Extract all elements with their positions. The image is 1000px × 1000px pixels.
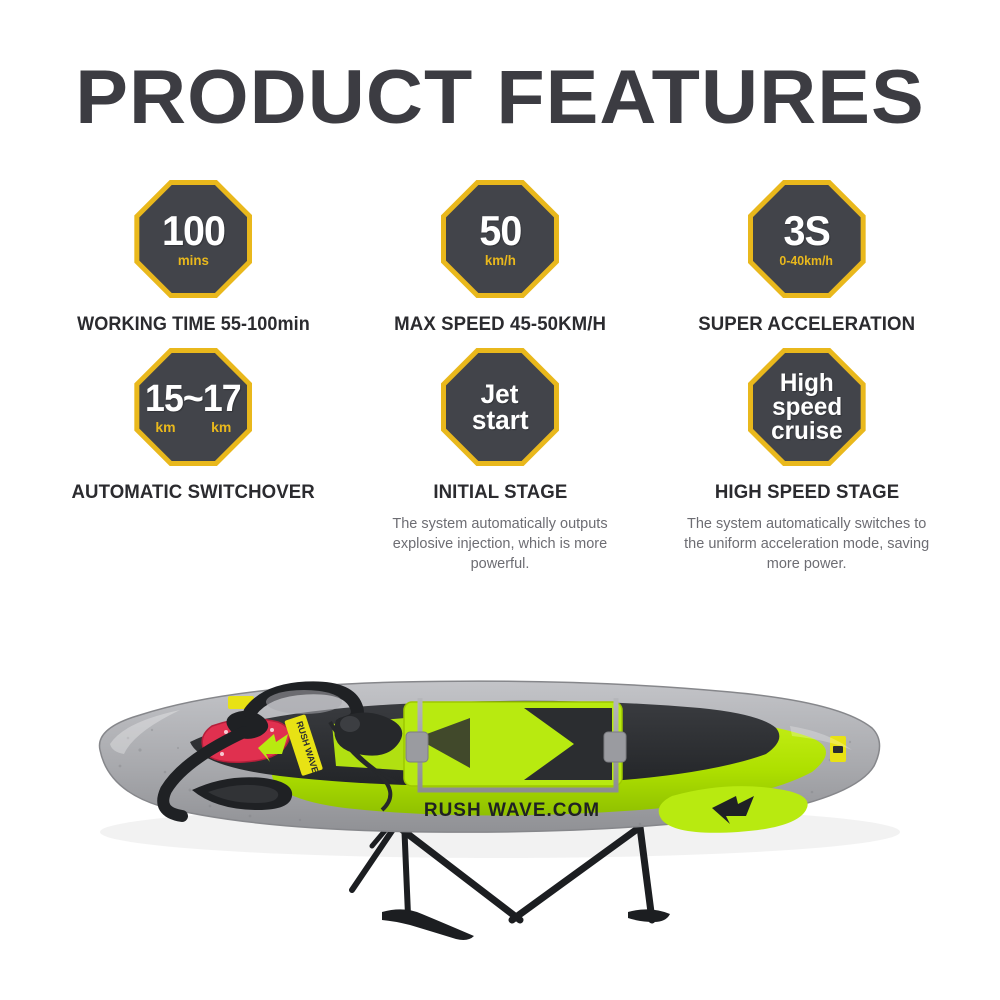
feature-super-acceleration: 3S 0-40km/h SUPER ACCELERATION — [653, 180, 960, 336]
tail-sticker-mark — [833, 746, 843, 753]
feature-automatic-switchover: 15~17 km km AUTOMATIC SWITCHOVER — [40, 348, 347, 574]
octagon-badge-50: 50 km/h — [441, 180, 559, 298]
badge-value-line1: Jet — [481, 381, 519, 407]
badge-value: 15~17 — [146, 379, 242, 419]
octagon-badge-100: 100 mins — [134, 180, 252, 298]
badge-unit: 0-40km/h — [780, 253, 834, 268]
feature-label: INITIAL STAGE — [433, 482, 567, 504]
product-features-page: PRODUCT FEATURES 100 mins WORKING TIME 5… — [0, 0, 1000, 1000]
feature-label: WORKING TIME 55-100min — [77, 314, 310, 336]
hatch-screw — [220, 752, 224, 756]
jetboard-illustration: RUSH WAVE RUSH WAVE.COM — [0, 620, 1000, 1000]
badge-value-line3: cruise — [771, 419, 842, 443]
badge-unit-row: km km — [155, 420, 231, 435]
badge-unit-right: km — [211, 420, 231, 435]
badge-content: 15~17 km km — [134, 348, 252, 466]
octagon-badge-jet-start: Jet start — [441, 348, 559, 466]
throttle-trigger[interactable] — [340, 716, 360, 732]
feature-description: The system automatically outputs explosi… — [372, 514, 627, 574]
badge-content: 50 km/h — [441, 180, 559, 298]
feature-working-time: 100 mins WORKING TIME 55-100min — [40, 180, 347, 336]
product-image-electric-jetboard: RUSH WAVE RUSH WAVE.COM — [0, 620, 1000, 1000]
feature-label: HIGH SPEED STAGE — [714, 482, 898, 504]
badge-unit-left: km — [155, 420, 175, 435]
badge-content: 3S 0-40km/h — [748, 180, 866, 298]
badge-value-line2: speed — [772, 395, 842, 419]
badge-unit: mins — [178, 253, 209, 268]
badge-content: High speed cruise — [748, 348, 866, 466]
badge-value: 3S — [783, 211, 829, 251]
hatch-latch-right[interactable] — [604, 732, 626, 762]
octagon-badge-15-17: 15~17 km km — [134, 348, 252, 466]
feature-high-speed-stage: High speed cruise HIGH SPEED STAGE The s… — [653, 348, 960, 574]
badge-content: Jet start — [441, 348, 559, 466]
badge-content: 100 mins — [134, 180, 252, 298]
hatch-latch-left[interactable] — [406, 732, 428, 762]
badge-value: 100 — [162, 211, 225, 251]
hatch-screw — [224, 730, 228, 734]
feature-grid: 100 mins WORKING TIME 55-100min 50 km/h … — [40, 180, 960, 574]
octagon-badge-3s: 3S 0-40km/h — [748, 180, 866, 298]
feature-label: MAX SPEED 45-50KM/H — [394, 314, 606, 336]
feature-label: SUPER ACCELERATION — [698, 314, 915, 336]
hatch-screw — [270, 728, 274, 732]
badge-value: 50 — [479, 211, 521, 251]
badge-unit: km/h — [484, 253, 515, 268]
hull-brand-text: RUSH WAVE.COM — [424, 800, 600, 821]
badge-value-line1: High — [780, 371, 834, 395]
feature-label: AUTOMATIC SWITCHOVER — [72, 482, 315, 504]
feature-initial-stage: Jet start INITIAL STAGE The system autom… — [347, 348, 654, 574]
octagon-badge-high-speed-cruise: High speed cruise — [748, 348, 866, 466]
page-title: PRODUCT FEATURES — [0, 58, 1000, 138]
badge-value-line2: start — [472, 407, 529, 433]
feature-description: The system automatically switches to the… — [679, 514, 934, 574]
handle-recess — [266, 690, 342, 714]
feature-max-speed: 50 km/h MAX SPEED 45-50KM/H — [347, 180, 654, 336]
